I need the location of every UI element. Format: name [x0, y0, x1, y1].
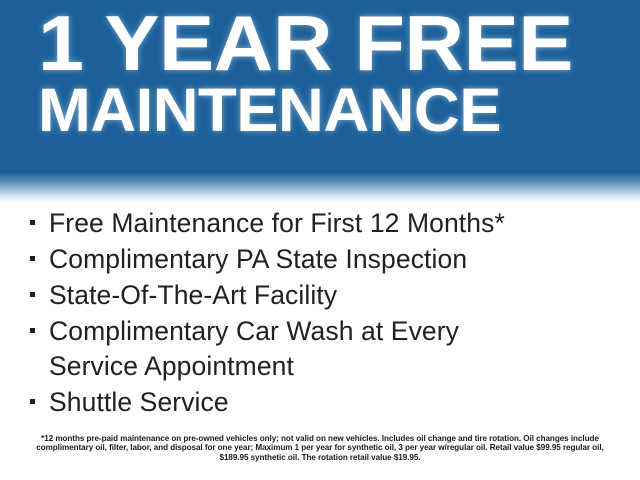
list-item: Free Maintenance for First 12 Months* [0, 206, 640, 241]
disclaimer-text: *12 months pre-paid maintenance on pre-o… [32, 434, 608, 462]
offer-benefits-list: Free Maintenance for First 12 Months* Co… [0, 206, 640, 421]
list-item-label: State-Of-The-Art Facility [49, 278, 640, 313]
headline: 1 YEAR FREE MAINTENANCE [38, 8, 624, 138]
list-item: Complimentary Car Wash at Every Service … [0, 314, 640, 384]
list-item: Complimentary PA State Inspection [0, 242, 640, 277]
header-banner: 1 YEAR FREE MAINTENANCE [0, 0, 640, 172]
list-item-label: Complimentary PA State Inspection [49, 242, 640, 277]
square-bullet-icon [30, 220, 35, 225]
square-bullet-icon [30, 328, 35, 333]
square-bullet-icon [30, 399, 35, 404]
maintenance-offer-ad: 1 YEAR FREE MAINTENANCE Free Maintenance… [0, 0, 640, 480]
headline-line-2: MAINTENANCE [38, 82, 640, 138]
list-item-label: Complimentary Car Wash at Every Service … [49, 314, 640, 384]
headline-line-1: 1 YEAR FREE [38, 8, 640, 80]
list-item-label: Free Maintenance for First 12 Months* [49, 206, 640, 241]
square-bullet-icon [30, 292, 35, 297]
list-item-label: Shuttle Service [49, 385, 640, 420]
square-bullet-icon [30, 256, 35, 261]
banner-gradient-fade [0, 172, 640, 202]
list-item: State-Of-The-Art Facility [0, 278, 640, 313]
list-item: Shuttle Service [0, 385, 640, 420]
